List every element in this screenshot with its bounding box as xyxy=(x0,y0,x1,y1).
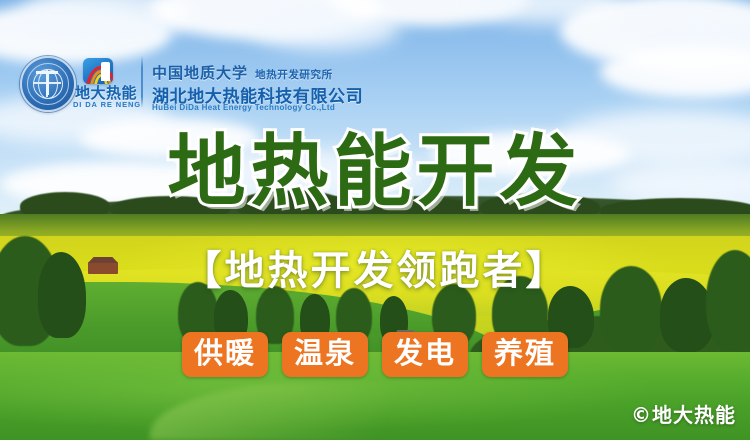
org-institute: 地热开发研究所 xyxy=(255,69,333,81)
org-university-line: 中国地质大学地热开发研究所 xyxy=(152,62,333,83)
copyright-watermark: ©地大热能 xyxy=(631,399,736,428)
geothermal-promo-banner: 地大热能 DI DA RE NENG 中国地质大学地热开发研究所 湖北地大热能科… xyxy=(0,0,750,440)
brand-header-bar: 地大热能 DI DA RE NENG 中国地质大学地热开发研究所 湖北地大热能科… xyxy=(0,22,750,94)
tag-aquaculture[interactable]: 养殖 xyxy=(482,332,568,377)
header-divider xyxy=(141,56,143,108)
service-tag-row: 供暖 温泉 发电 养殖 xyxy=(0,332,750,377)
tag-heating[interactable]: 供暖 xyxy=(182,332,268,377)
main-title: 地热能开发 xyxy=(0,133,750,211)
brand-name-pinyin: DI DA RE NENG xyxy=(70,100,144,109)
tag-hot-spring[interactable]: 温泉 xyxy=(282,332,368,377)
university-seal-icon xyxy=(20,56,76,112)
subtitle: 【地热开发领跑者】 xyxy=(0,248,750,294)
tag-power[interactable]: 发电 xyxy=(382,332,468,377)
org-university: 中国地质大学 xyxy=(152,64,248,82)
org-company-en: HuBei DiDa Heat Energy Technology Co.,Lt… xyxy=(152,103,335,112)
dida-rainbow-logo-icon xyxy=(83,58,113,84)
